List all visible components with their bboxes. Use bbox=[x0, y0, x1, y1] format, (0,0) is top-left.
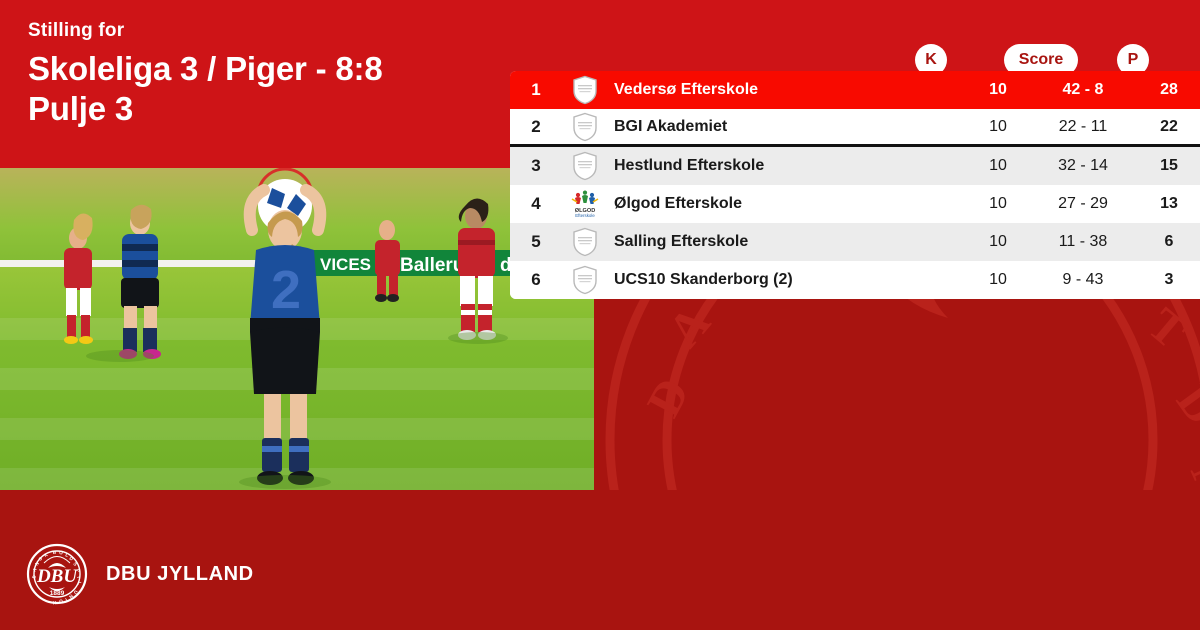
standings-table: 1Vedersø Efterskole1042 - 8282BGI Akadem… bbox=[510, 71, 1200, 299]
row-team-name: BGI Akademiet bbox=[608, 118, 968, 136]
row-rank: 6 bbox=[510, 270, 562, 290]
dbu-logo-icon: DBU 1889 D A N S K B O L D S P I L U N I… bbox=[26, 543, 88, 605]
row-rank: 3 bbox=[510, 156, 562, 176]
svg-text:A: A bbox=[658, 296, 721, 357]
row-goal-score: 27 - 29 bbox=[1028, 195, 1138, 213]
olgod-logo-icon: ØLGODEfterskole bbox=[569, 188, 601, 220]
row-team-name: Salling Efterskole bbox=[608, 233, 968, 251]
row-rank: 2 bbox=[510, 117, 562, 137]
row-matches-played: 10 bbox=[968, 157, 1028, 175]
svg-text:1889: 1889 bbox=[50, 590, 65, 597]
table-row[interactable]: 6UCS10 Skanderborg (2)109 - 433 bbox=[510, 261, 1200, 299]
shield-icon bbox=[572, 112, 598, 142]
row-team-name: UCS10 Skanderborg (2) bbox=[608, 271, 968, 289]
row-goal-score: 22 - 11 bbox=[1028, 118, 1138, 136]
row-matches-played: 10 bbox=[968, 233, 1028, 251]
standings-graphic: DBU D A N T D N Stilling for Skoleliga 3… bbox=[0, 0, 1200, 630]
jersey-number: 2 bbox=[271, 260, 301, 320]
row-matches-played: 10 bbox=[968, 118, 1028, 136]
row-matches-played: 10 bbox=[968, 195, 1028, 213]
row-goal-score: 32 - 14 bbox=[1028, 157, 1138, 175]
svg-text:D: D bbox=[637, 370, 700, 425]
team-logo bbox=[562, 151, 608, 181]
shield-icon bbox=[572, 75, 598, 105]
row-team-name: Ølgod Efterskole bbox=[608, 195, 968, 213]
svg-text:D: D bbox=[1166, 375, 1200, 434]
table-row[interactable]: 2BGI Akademiet1022 - 1122 bbox=[510, 109, 1200, 147]
match-photo: VICES Ballerup de bbox=[0, 168, 594, 490]
row-team-name: Hestlund Efterskole bbox=[608, 157, 968, 175]
table-row[interactable]: 4ØLGODEfterskoleØlgod Efterskole1027 - 2… bbox=[510, 185, 1200, 223]
row-points: 13 bbox=[1138, 195, 1200, 213]
table-row[interactable]: 3Hestlund Efterskole1032 - 1415 bbox=[510, 147, 1200, 185]
standings-rows: 1Vedersø Efterskole1042 - 8282BGI Akadem… bbox=[510, 71, 1200, 299]
row-points: 3 bbox=[1138, 271, 1200, 289]
row-rank: 1 bbox=[510, 80, 562, 100]
team-logo bbox=[562, 227, 608, 257]
row-rank: 5 bbox=[510, 232, 562, 252]
shield-icon bbox=[572, 265, 598, 295]
svg-text:DBU: DBU bbox=[36, 566, 78, 587]
row-goal-score: 9 - 43 bbox=[1028, 271, 1138, 289]
team-logo bbox=[562, 75, 608, 105]
svg-text:Efterskole: Efterskole bbox=[575, 213, 595, 218]
svg-text:VICES: VICES bbox=[320, 255, 371, 274]
row-points: 28 bbox=[1138, 81, 1200, 99]
table-row[interactable]: 5Salling Efterskole1011 - 386 bbox=[510, 223, 1200, 261]
team-logo bbox=[562, 112, 608, 142]
header-text-block: Stilling for Skoleliga 3 / Piger - 8:8 P… bbox=[28, 20, 382, 129]
row-points: 6 bbox=[1138, 233, 1200, 251]
shield-icon bbox=[572, 227, 598, 257]
row-goal-score: 42 - 8 bbox=[1028, 81, 1138, 99]
row-rank: 4 bbox=[510, 194, 562, 214]
table-row[interactable]: 1Vedersø Efterskole1042 - 828 bbox=[510, 71, 1200, 109]
shield-icon bbox=[572, 151, 598, 181]
page-title: Skoleliga 3 / Piger - 8:8 Pulje 3 bbox=[28, 49, 382, 130]
photo-illustration: VICES Ballerup de bbox=[0, 168, 594, 490]
row-matches-played: 10 bbox=[968, 81, 1028, 99]
kicker-label: Stilling for bbox=[28, 20, 382, 43]
row-goal-score: 11 - 38 bbox=[1028, 233, 1138, 251]
row-points: 15 bbox=[1138, 157, 1200, 175]
svg-text:T: T bbox=[1138, 298, 1197, 359]
row-matches-played: 10 bbox=[968, 271, 1028, 289]
team-logo bbox=[562, 265, 608, 295]
brand-name: DBU JYLLAND bbox=[106, 563, 254, 586]
row-team-name: Vedersø Efterskole bbox=[608, 81, 968, 99]
brand-block: DBU 1889 D A N S K B O L D S P I L U N I… bbox=[26, 543, 254, 605]
row-points: 22 bbox=[1138, 118, 1200, 136]
team-logo: ØLGODEfterskole bbox=[562, 188, 608, 220]
